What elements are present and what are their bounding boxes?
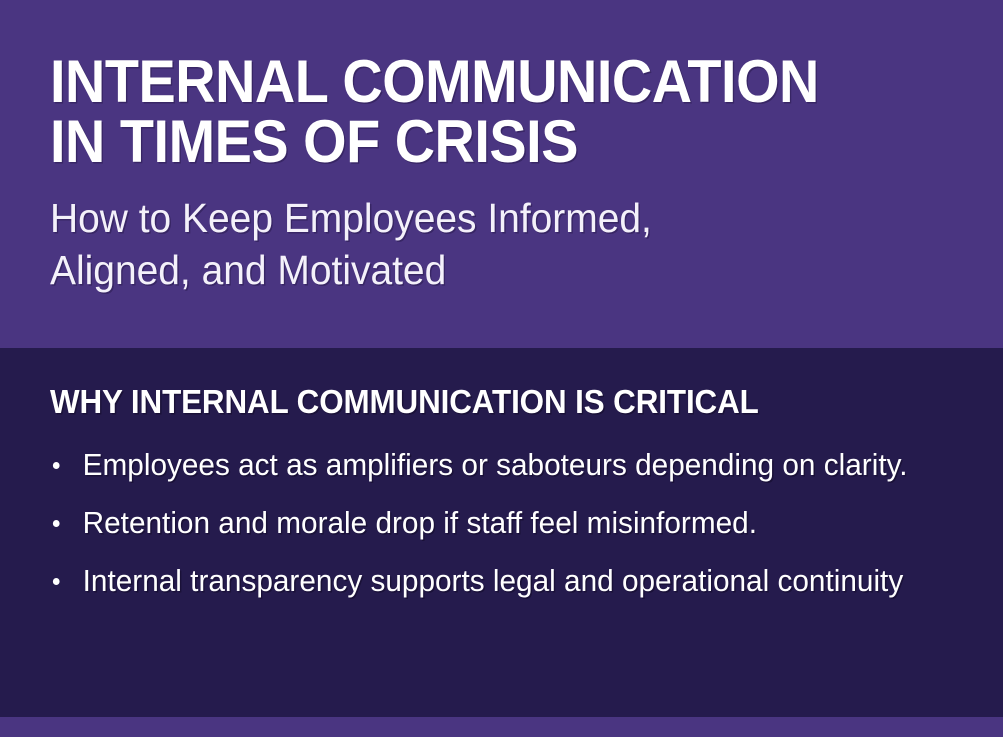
bullet-list: Employees act as amplifiers or saboteurs… bbox=[50, 446, 969, 600]
hero-band: INTERNAL COMMUNICATION IN TIMES OF CRISI… bbox=[0, 0, 1003, 348]
list-item-text: Employees act as amplifiers or saboteurs… bbox=[83, 446, 933, 484]
list-item-text: Retention and morale drop if staff feel … bbox=[83, 504, 933, 542]
page-title-line-1: INTERNAL COMMUNICATION bbox=[50, 52, 899, 112]
content-panel: WHY INTERNAL COMMUNICATION IS CRITICAL E… bbox=[0, 348, 1003, 737]
page-subtitle-line-1: How to Keep Employees Informed, bbox=[50, 192, 917, 244]
list-item: Internal transparency supports legal and… bbox=[50, 562, 932, 600]
page-title: INTERNAL COMMUNICATION IN TIMES OF CRISI… bbox=[50, 52, 899, 172]
content-panel-inner: WHY INTERNAL COMMUNICATION IS CRITICAL E… bbox=[50, 384, 969, 600]
hero-content: INTERNAL COMMUNICATION IN TIMES OF CRISI… bbox=[50, 52, 963, 296]
bullet-dot-icon bbox=[53, 578, 60, 585]
bullet-dot-icon bbox=[53, 462, 60, 469]
list-item: Retention and morale drop if staff feel … bbox=[50, 504, 932, 542]
footer-accent-strip bbox=[0, 717, 1003, 737]
page-subtitle: How to Keep Employees Informed, Aligned,… bbox=[50, 192, 917, 296]
page-subtitle-line-2: Aligned, and Motivated bbox=[50, 244, 917, 296]
list-item-text: Internal transparency supports legal and… bbox=[83, 562, 933, 600]
page-title-line-2: IN TIMES OF CRISIS bbox=[50, 112, 899, 172]
list-item: Employees act as amplifiers or saboteurs… bbox=[50, 446, 932, 484]
section-heading: WHY INTERNAL COMMUNICATION IS CRITICAL bbox=[50, 384, 923, 420]
bullet-dot-icon bbox=[53, 520, 60, 527]
slide-root: INTERNAL COMMUNICATION IN TIMES OF CRISI… bbox=[0, 0, 1003, 737]
